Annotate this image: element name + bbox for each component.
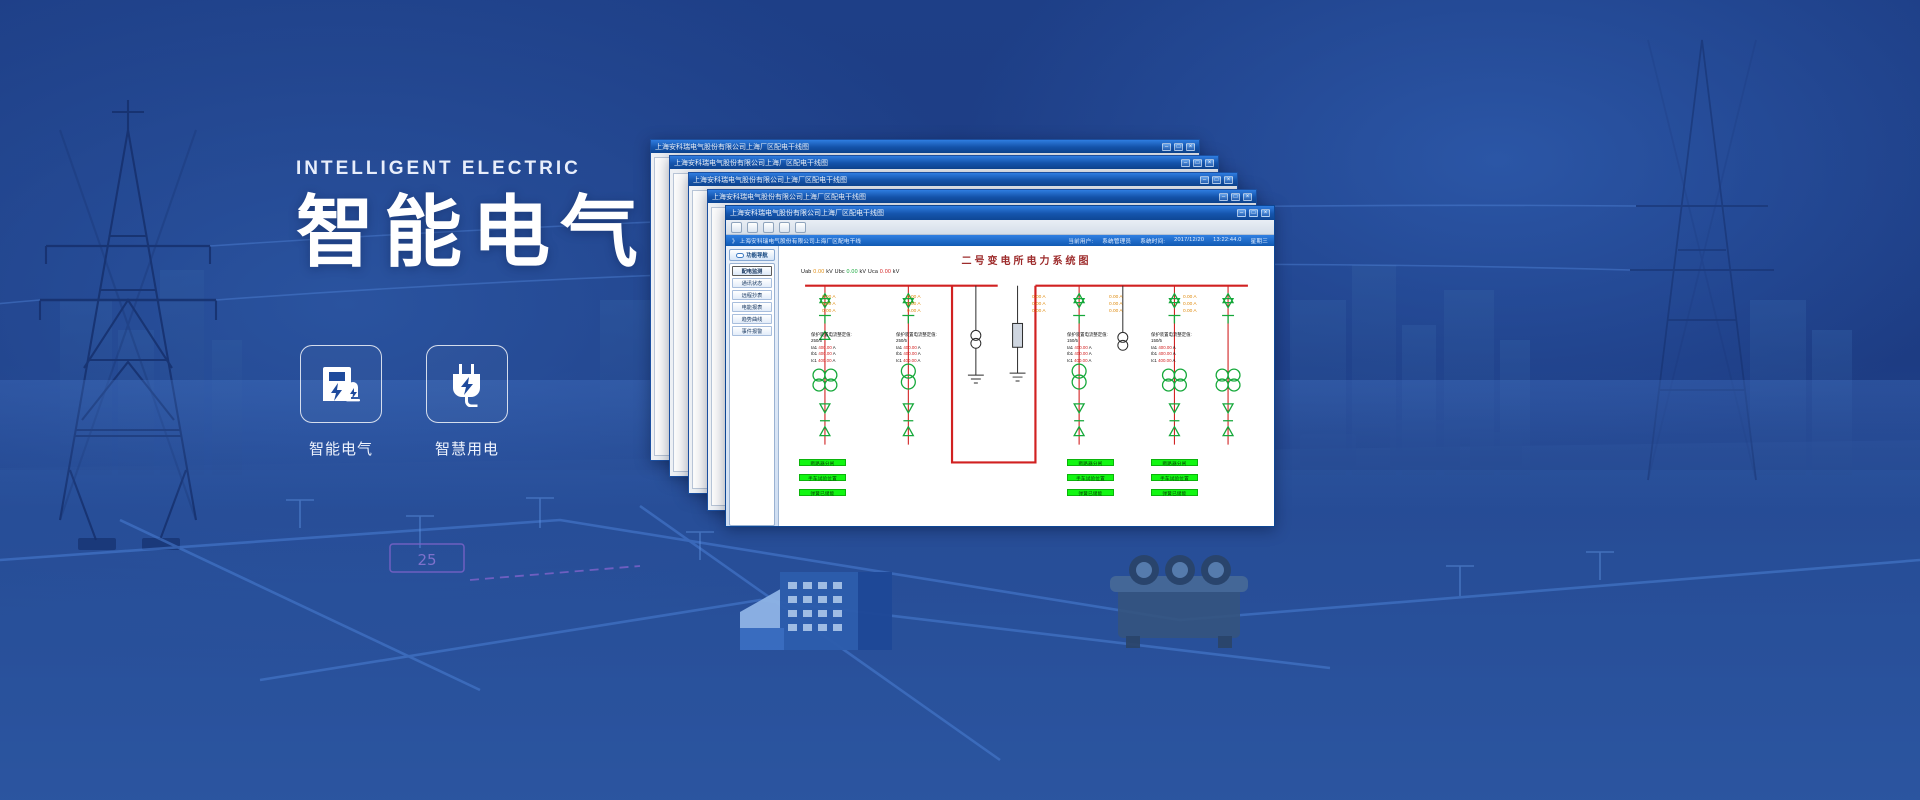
ct-ratio: 250/5 [896,338,907,343]
feeder-current-value: 0.00 [1032,302,1041,307]
setting-unit: A [918,345,921,350]
window-titlebar[interactable]: 上海安科瑞电气股份有限公司上海厂区配电干线图 – □ × [708,190,1256,203]
maximize-icon[interactable]: □ [1249,209,1258,217]
minimize-icon[interactable]: – [1219,193,1228,201]
setting-value: 400.00 [818,351,831,356]
sidebar-header: 功能导航 [729,249,775,261]
setting-unit: A [833,345,836,350]
close-icon[interactable]: × [1205,159,1214,167]
function-navigation-sidebar: 功能导航 配电监测 通讯状态 远程抄表 电能报表 [726,246,779,526]
window-titlebar[interactable]: 上海安科瑞电气股份有限公司上海厂区配电干线图 – □ × [670,156,1218,169]
feeder-current-unit: A [1119,309,1122,314]
window-controls[interactable]: – □ × [1162,143,1195,151]
setting-name: Ic1 [811,358,817,363]
maximize-icon[interactable]: □ [1193,159,1202,167]
minimize-icon[interactable]: – [1162,143,1171,151]
setting-value: 400.00 [1158,345,1171,350]
feeder-current-value: 0.00 [1032,295,1041,300]
current-user-label: 当前用户: [1068,237,1093,245]
setting-name: Ib1 [811,351,817,356]
feeder-current-value: 0.00 [1109,309,1118,314]
sidebar-item-energy-report[interactable]: 电能报表 [732,302,772,312]
setting-value: 400.00 [903,358,916,363]
maximize-icon[interactable]: □ [1174,143,1183,151]
feeder-current-unit: A [1119,302,1122,307]
close-icon[interactable]: × [1186,143,1195,151]
window-title: 上海安科瑞电气股份有限公司上海厂区配电干线图 [712,192,1219,202]
setting-value: 400.00 [1074,358,1087,363]
setting-name: Ia1 [1067,345,1073,350]
setting-unit: A [1089,358,1092,363]
minimize-icon[interactable]: – [1181,159,1190,167]
minimize-icon[interactable]: – [1237,209,1246,217]
session-info: 当前用户: 系统管理员 系统时间: 2017/12/20 13:22:44.0 … [1068,237,1268,245]
feeder-current-unit: A [1193,302,1196,307]
close-icon[interactable]: × [1224,176,1233,184]
status-badge-group: 断路器分闸 手车试验位置 弹簧已储能 [1067,459,1114,480]
feeder-current-group: 0.00 A 0.00 A 0.00 A [1032,294,1046,315]
status-badge-group: 断路器分闸 手车试验位置 弹簧已储能 [1151,459,1198,480]
window-main: 功能导航 配电监测 通讯状态 远程抄表 电能报表 [726,246,1274,526]
setting-name: Ib1 [1151,351,1157,356]
sidebar-list: 配电监测 通讯状态 远程抄表 电能报表 趋势曲线 事件报警 [729,263,775,526]
front-window[interactable]: 上海安科瑞电气股份有限公司上海厂区配电干线图 – □ × 》 上海安科瑞电气股份… [725,205,1275,527]
sidebar-header-label: 功能导航 [746,251,768,259]
window-controls[interactable]: – □ × [1200,176,1233,184]
open-folder-icon[interactable] [747,222,758,233]
sidebar-item-power-monitoring[interactable]: 配电监测 [732,266,772,276]
setting-value: 400.00 [903,351,916,356]
minimize-icon[interactable]: – [1200,176,1209,184]
setting-unit: A [918,358,921,363]
sidebar-item-label: 配电监测 [742,268,763,275]
setting-name: Ib1 [896,351,902,356]
window-controls[interactable]: – □ × [1219,193,1252,201]
feeder-current-unit: A [917,295,920,300]
sld-graphics [779,246,1274,526]
feeder-current-unit: A [1119,295,1122,300]
protection-settings-block: 保护装置电流整定值: 150/5 Ia1 400.00 A Ib1 400.00… [1067,332,1108,364]
feeder-current-value: 0.00 [1109,295,1118,300]
feeder-current-value: 0.00 [1109,302,1118,307]
weekday-value: 星期三 [1251,237,1268,245]
setting-unit: A [1173,351,1176,356]
print-icon[interactable] [779,222,790,233]
feeder-current-value: 0.00 [822,309,831,314]
window-title: 上海安科瑞电气股份有限公司上海厂区配电干线图 [674,158,1181,168]
feeder-current-group: 0.00 A 0.00 A 0.00 A [1183,294,1197,315]
feeder-current-value: 0.00 [907,295,916,300]
status-badge-group: 断路器分闸 手车试验位置 弹簧已储能 [799,459,846,480]
setting-name: Ic1 [896,358,902,363]
setting-name: Ic1 [1067,358,1073,363]
sidebar-item-trend-curve[interactable]: 趋势曲线 [732,314,772,324]
setting-value: 400.00 [1074,351,1087,356]
window-titlebar[interactable]: 上海安科瑞电气股份有限公司上海厂区配电干线图 – □ × [651,140,1199,153]
setting-name: Ic1 [1151,358,1157,363]
setting-unit: A [833,351,836,356]
ct-ratio: 150/5 [1151,338,1162,343]
window-infobar: 》 上海安科瑞电气股份有限公司上海厂区配电干线 当前用户: 系统管理员 系统时间… [726,235,1274,246]
close-icon[interactable]: × [1243,193,1252,201]
window-title: 上海安科瑞电气股份有限公司上海厂区配电干线图 [693,175,1200,185]
close-icon[interactable]: × [1261,209,1270,217]
setting-unit: A [1173,345,1176,350]
sidebar-item-event-alarm[interactable]: 事件报警 [732,326,772,336]
setting-value: 400.00 [1074,345,1087,350]
feeder-current-unit: A [832,295,835,300]
sidebar-item-comm-status[interactable]: 通讯状态 [732,278,772,288]
feeder-current-value: 0.00 [1183,309,1192,314]
status-badge-breaker: 断路器分闸 [1151,459,1198,466]
maximize-icon[interactable]: □ [1231,193,1240,201]
feeder-current-unit: A [1193,309,1196,314]
window-titlebar[interactable]: 上海安科瑞电气股份有限公司上海厂区配电干线图 – □ × [726,206,1274,220]
feeder-current-unit: A [832,309,835,314]
sidebar-item-label: 电能报表 [742,304,763,311]
feeder-current-group: 0.00 A 0.00 A 0.00 A [907,294,921,315]
maximize-icon[interactable]: □ [1212,176,1221,184]
window-title: 上海安科瑞电气股份有限公司上海厂区配电干线图 [730,208,1237,218]
feeder-current-value: 0.00 [1032,309,1041,314]
setting-value: 400.00 [1158,351,1171,356]
setting-unit: A [833,358,836,363]
window-stack: 上海安科瑞电气股份有限公司上海厂区配电干线图 – □ × 上海安科瑞电气股份有限… [0,0,1920,800]
status-badge-breaker: 断路器分闸 [799,459,846,466]
feeder-current-unit: A [917,309,920,314]
window-toolbar[interactable] [726,220,1274,235]
feeder-current-unit: A [832,302,835,307]
system-clock-value: 13:22:44.0 [1213,237,1241,245]
new-file-icon[interactable] [731,222,742,233]
setting-name: Ia1 [811,345,817,350]
feeder-current-value: 0.00 [907,302,916,307]
single-line-diagram-canvas[interactable]: 二号变电所电力系统图 Uab 0.00 kV Ubc 0.00 kV Uca 0… [779,246,1274,526]
feeder-current-unit: A [917,302,920,307]
status-badge-spring-charged: 弹簧已储能 [1067,489,1114,496]
feeder-current-group: 0.00 A 0.00 A 0.00 A [822,294,836,315]
setting-value: 400.00 [818,358,831,363]
window-titlebar[interactable]: 上海安科瑞电气股份有限公司上海厂区配电干线图 – □ × [689,173,1237,186]
setting-unit: A [1089,351,1092,356]
navigation-cloud-icon [736,253,744,258]
sidebar-item-label: 趋势曲线 [742,316,763,323]
status-badge-spring-charged: 弹簧已储能 [799,489,846,496]
feeder-current-unit: A [1042,309,1045,314]
sidebar-item-remote-meter-reading[interactable]: 远程抄表 [732,290,772,300]
feeder-current-value: 0.00 [822,295,831,300]
current-user-value: 系统管理员 [1102,237,1131,245]
feeder-current-group: 0.00 A 0.00 A 0.00 A [1109,294,1123,315]
feeder-current-unit: A [1042,295,1045,300]
setting-name: Ib1 [1067,351,1073,356]
setting-value: 400.00 [818,345,831,350]
setting-value: 400.00 [1158,358,1171,363]
system-time-label: 系统时间: [1140,237,1165,245]
feeder-current-value: 0.00 [822,302,831,307]
ct-ratio: 150/5 [1067,338,1078,343]
protection-settings-block: 保护装置电流整定值: 250/5 Ia1 400.00 A Ib1 400.00… [811,332,852,364]
feeder-current-unit: A [1042,302,1045,307]
window-title: 上海安科瑞电气股份有限公司上海厂区配电干线图 [655,142,1162,152]
breadcrumb: 》 上海安科瑞电气股份有限公司上海厂区配电干线 [732,237,1068,245]
protection-settings-block: 保护装置电流整定值: 150/5 Ia1 400.00 A Ib1 400.00… [1151,332,1192,364]
feeder-current-value: 0.00 [1183,295,1192,300]
window-controls[interactable]: – □ × [1181,159,1214,167]
status-badge-truck-position: 手车试验位置 [1151,474,1198,481]
setting-value: 400.00 [903,345,916,350]
sidebar-item-label: 远程抄表 [742,292,763,299]
setting-unit: A [1089,345,1092,350]
window-controls[interactable]: – □ × [1237,209,1270,217]
setting-unit: A [1173,358,1176,363]
sidebar-item-label: 通讯状态 [742,280,763,287]
system-date-value: 2017/12/20 [1174,237,1204,245]
setting-name: Ia1 [1151,345,1157,350]
status-badge-truck-position: 手车试验位置 [1067,474,1114,481]
refresh-icon[interactable] [795,222,806,233]
feeder-current-unit: A [1193,295,1196,300]
setting-name: Ia1 [896,345,902,350]
ct-ratio: 250/5 [811,338,822,343]
save-icon[interactable] [763,222,774,233]
feeder-current-value: 0.00 [907,309,916,314]
status-badge-spring-charged: 弹簧已储能 [1151,489,1198,496]
status-badge-truck-position: 手车试验位置 [799,474,846,481]
protection-settings-block: 保护装置电流整定值: 250/5 Ia1 400.00 A Ib1 400.00… [896,332,937,364]
setting-unit: A [918,351,921,356]
status-badge-breaker: 断路器分闸 [1067,459,1114,466]
feeder-current-value: 0.00 [1183,302,1192,307]
sidebar-item-label: 事件报警 [742,328,763,335]
